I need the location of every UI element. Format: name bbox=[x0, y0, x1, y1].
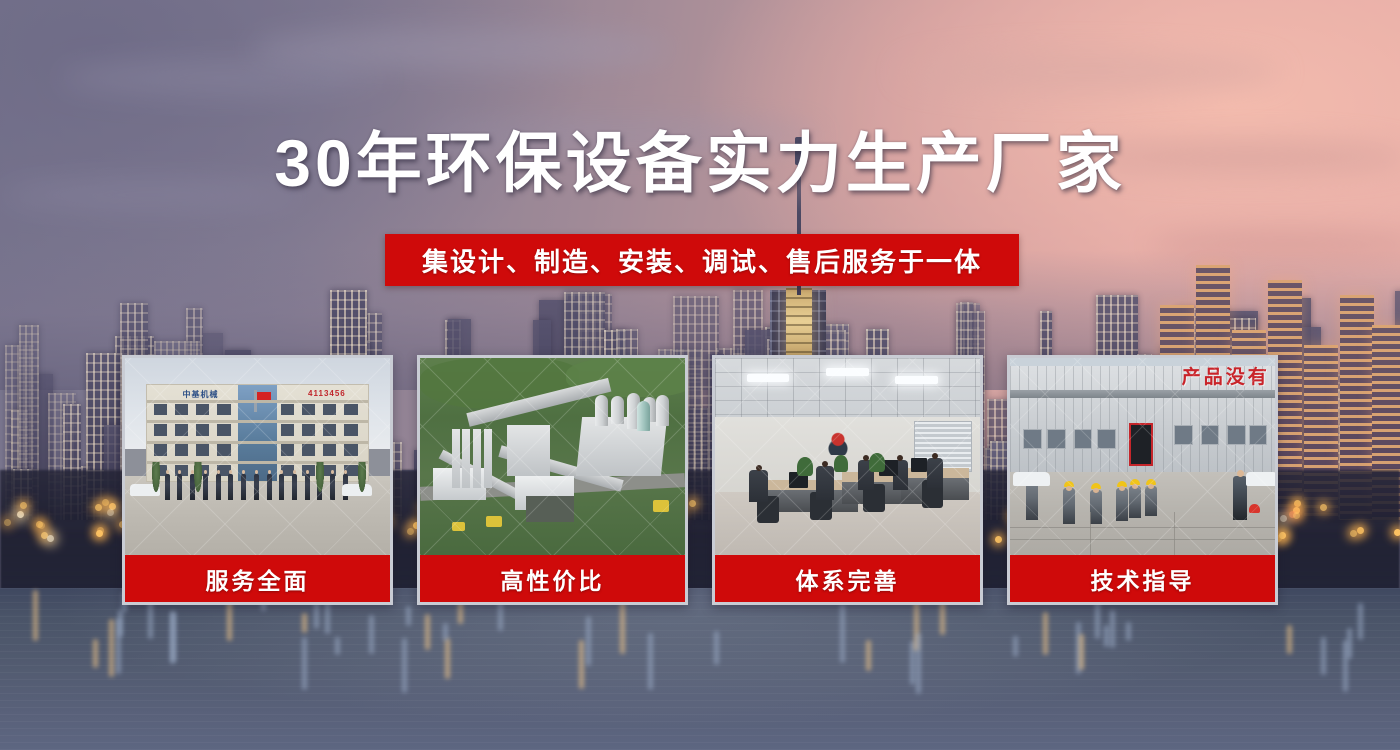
shore-light bbox=[96, 530, 103, 537]
water-reflection bbox=[402, 638, 407, 692]
wall-emblem bbox=[821, 429, 855, 455]
pavement-seam bbox=[1010, 527, 1275, 528]
water-reflection bbox=[314, 601, 319, 629]
staff-figure bbox=[279, 474, 284, 500]
stack bbox=[484, 429, 492, 488]
feature-card[interactable]: 高性价比 bbox=[417, 355, 688, 605]
water-reflection bbox=[1321, 637, 1326, 674]
staff-figure bbox=[292, 474, 297, 500]
shore-light bbox=[20, 502, 27, 509]
water-reflection bbox=[620, 597, 625, 654]
shore-light bbox=[1293, 512, 1300, 519]
plant-building bbox=[576, 417, 667, 476]
water-reflection bbox=[1110, 610, 1115, 648]
card-photo-headquarters: 中基机械 4113456 bbox=[125, 358, 390, 555]
feature-card[interactable]: 产品没有 技术指导 bbox=[1007, 355, 1278, 605]
factory-window bbox=[1047, 429, 1066, 449]
stack bbox=[462, 429, 470, 488]
water-reflection bbox=[648, 633, 653, 690]
subtitle-banner: 集设计、制造、安装、调试、售后服务于一体 bbox=[385, 234, 1019, 286]
water-reflection bbox=[866, 640, 871, 671]
worker-figure bbox=[1090, 490, 1102, 524]
staff-figure bbox=[216, 474, 221, 500]
pavement-seam bbox=[1010, 539, 1275, 540]
water-reflection bbox=[1043, 612, 1048, 654]
shore-light bbox=[1350, 530, 1357, 537]
shore-light bbox=[38, 522, 45, 529]
feature-card[interactable]: 体系完善 bbox=[712, 355, 983, 605]
factory-window bbox=[1174, 425, 1193, 445]
staff-figure bbox=[177, 474, 182, 500]
card-caption: 技术指导 bbox=[1010, 555, 1275, 602]
card-photo-workers-training: 产品没有 bbox=[1010, 358, 1275, 555]
silo bbox=[595, 395, 608, 427]
staff-figure bbox=[267, 474, 272, 500]
pavement-seam bbox=[1090, 512, 1091, 555]
shore-light bbox=[1279, 532, 1286, 539]
water-reflection bbox=[93, 639, 98, 668]
monitor bbox=[911, 458, 927, 472]
silo bbox=[637, 401, 650, 431]
ceiling-light bbox=[747, 374, 789, 382]
stack bbox=[473, 429, 481, 488]
card-caption: 体系完善 bbox=[715, 555, 980, 602]
feature-card-row: 中基机械 4113456 服务全面 高性价比 体系完善 bbox=[122, 355, 1278, 605]
ceiling-light bbox=[826, 368, 868, 376]
shore-light bbox=[17, 511, 24, 518]
water-reflection bbox=[335, 637, 340, 655]
parked-car bbox=[1013, 472, 1050, 486]
factory-window bbox=[1201, 425, 1220, 445]
silo bbox=[611, 396, 624, 424]
seated-person bbox=[749, 470, 768, 502]
staff-figure bbox=[203, 474, 208, 500]
page-title: 30年环保设备实力生产厂家 bbox=[0, 130, 1400, 196]
water-reflection bbox=[443, 623, 448, 641]
shore-light bbox=[1394, 529, 1400, 536]
pavement-seam bbox=[1174, 512, 1175, 555]
shore-light bbox=[47, 535, 54, 542]
cloud bbox=[250, 28, 670, 70]
seated-person bbox=[816, 466, 835, 499]
water-reflection bbox=[1104, 625, 1109, 646]
parked-car bbox=[1246, 472, 1275, 486]
factory-window bbox=[1249, 425, 1268, 445]
shore-light bbox=[4, 519, 11, 526]
water-reflection bbox=[714, 631, 719, 665]
water-reflection bbox=[1358, 603, 1363, 640]
water-reflection bbox=[33, 590, 38, 641]
shore-light bbox=[107, 509, 114, 516]
river-sheen bbox=[0, 588, 1400, 750]
worker-figure bbox=[1145, 486, 1157, 516]
tree bbox=[152, 462, 160, 492]
water-reflection bbox=[1126, 622, 1131, 640]
instructor-figure bbox=[1233, 476, 1247, 520]
water-reflection bbox=[425, 614, 430, 650]
tree bbox=[358, 462, 366, 492]
red-helmet bbox=[1249, 504, 1260, 513]
staff-figure bbox=[305, 474, 310, 500]
yellow-machine bbox=[486, 516, 502, 528]
worker-figure bbox=[1116, 488, 1128, 521]
factory-window bbox=[1023, 429, 1042, 449]
stack bbox=[452, 429, 460, 488]
factory-window bbox=[1097, 429, 1116, 449]
water-reflection bbox=[1287, 625, 1292, 654]
card-photo-office-interior bbox=[715, 358, 980, 555]
water-reflection bbox=[916, 633, 921, 694]
water-reflection bbox=[579, 640, 584, 689]
card-photo-industrial-plant bbox=[420, 358, 685, 555]
water-reflection bbox=[170, 611, 175, 664]
office-plant bbox=[834, 455, 847, 473]
staff-figure bbox=[330, 474, 335, 500]
water-reflection bbox=[1013, 636, 1018, 656]
seated-person bbox=[927, 458, 943, 488]
shore-light bbox=[95, 504, 102, 511]
card-caption: 高性价比 bbox=[420, 555, 685, 602]
water-reflection bbox=[586, 616, 591, 666]
water-reflection bbox=[118, 610, 123, 637]
water-reflection bbox=[1079, 634, 1084, 670]
staff-figure bbox=[228, 474, 233, 500]
water-reflection bbox=[406, 606, 411, 626]
water-reflection bbox=[109, 619, 114, 677]
yellow-machine bbox=[653, 500, 669, 512]
building-sign-text: 中基机械 bbox=[182, 389, 218, 400]
shore-light bbox=[1320, 504, 1327, 511]
yellow-machine bbox=[452, 522, 465, 532]
shore-light bbox=[1294, 500, 1301, 507]
water-reflection bbox=[302, 613, 307, 632]
water-reflection bbox=[1347, 628, 1352, 659]
water-reflection bbox=[369, 615, 374, 654]
water-reflection bbox=[1343, 640, 1348, 692]
worker-figure bbox=[1129, 486, 1141, 518]
building-phone-text: 4113456 bbox=[308, 389, 346, 398]
office-plant bbox=[797, 457, 813, 477]
tree bbox=[194, 462, 202, 492]
shore-light bbox=[1357, 527, 1364, 534]
staff-figure bbox=[165, 474, 170, 500]
shed bbox=[526, 496, 574, 522]
office-plant bbox=[869, 453, 885, 473]
tree bbox=[316, 462, 324, 492]
worker-figure bbox=[1063, 488, 1075, 524]
staff-figure bbox=[254, 474, 259, 500]
factory-window bbox=[1074, 429, 1093, 449]
water-reflection bbox=[302, 637, 307, 690]
feature-card[interactable]: 中基机械 4113456 服务全面 bbox=[122, 355, 393, 605]
ceiling-light bbox=[895, 376, 937, 384]
water-reflection bbox=[445, 638, 450, 680]
factory-banner-text: 产品没有 bbox=[1182, 362, 1270, 389]
subtitle-text: 集设计、制造、安装、调试、售后服务于一体 bbox=[422, 242, 982, 279]
shore-light bbox=[1280, 515, 1287, 522]
plant-building bbox=[507, 425, 549, 476]
worker-figure bbox=[1026, 480, 1038, 520]
staff-figure bbox=[241, 474, 246, 500]
factory-window bbox=[1227, 425, 1246, 445]
card-caption: 服务全面 bbox=[125, 555, 390, 602]
cloud bbox=[900, 52, 1280, 92]
silo bbox=[656, 395, 669, 427]
water-reflection bbox=[840, 604, 845, 663]
